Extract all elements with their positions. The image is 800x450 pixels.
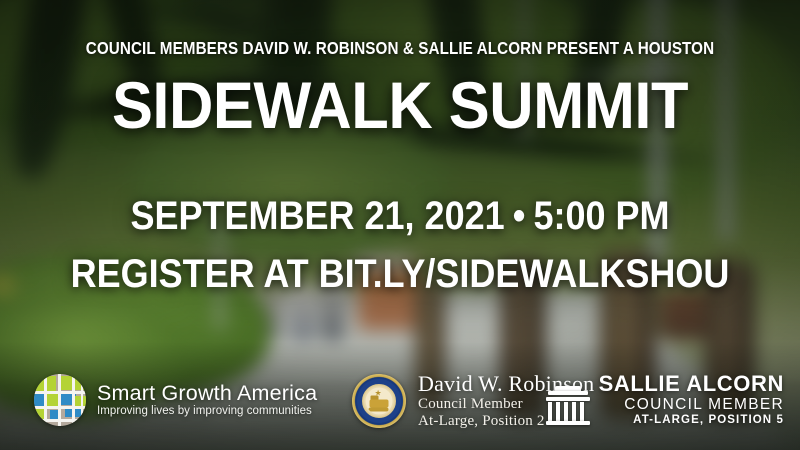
alcorn-position: AT-LARGE, POSITION 5	[633, 415, 784, 427]
city-of-houston-seal-icon	[352, 374, 406, 428]
datetime-separator: •	[505, 196, 534, 236]
logo-sallie-alcorn[interactable]: SALLIE ALCORN COUNCIL MEMBER AT-LARGE, P…	[546, 373, 784, 426]
sga-tagline: Improving lives by improving communities	[97, 406, 317, 418]
sponsor-logo-row: Smart Growth America Improving lives by …	[0, 360, 800, 432]
presenter-kicker: COUNCIL MEMBERS DAVID W. ROBINSON & SALL…	[52, 38, 748, 59]
city-hall-building-icon	[546, 385, 590, 425]
event-datetime: SEPTEMBER 21, 2021•5:00 PM	[40, 196, 760, 236]
registration-call-to-action[interactable]: REGISTER AT BIT.LY/SIDEWALKSHOU	[40, 254, 760, 294]
sga-wordmark: Smart Growth America	[97, 383, 317, 405]
event-time: 5:00 PM	[533, 194, 669, 238]
alcorn-name: SALLIE ALCORN	[599, 373, 784, 395]
logo-smart-growth-america[interactable]: Smart Growth America Improving lives by …	[34, 374, 317, 426]
page-title: SIDEWALK SUMMIT	[28, 72, 772, 138]
alcorn-role: COUNCIL MEMBER	[624, 397, 784, 413]
event-poster: COUNCIL MEMBERS DAVID W. ROBINSON & SALL…	[0, 0, 800, 450]
city-grid-circle-icon	[34, 374, 86, 426]
event-date: SEPTEMBER 21, 2021	[130, 194, 504, 238]
